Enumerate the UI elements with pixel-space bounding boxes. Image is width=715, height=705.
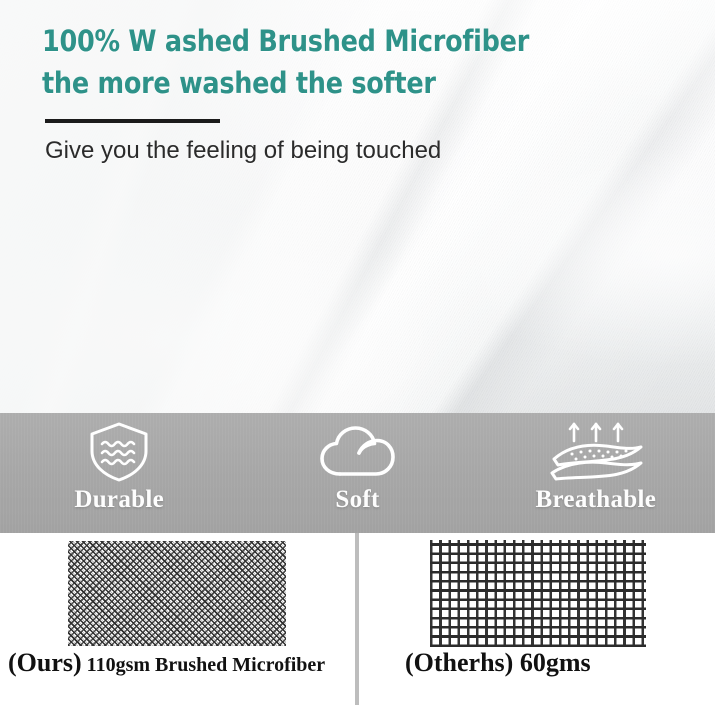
product-feature-banner: 100% W ashed Brushed Microfiber the more… xyxy=(0,0,715,705)
cloud-icon xyxy=(318,421,396,483)
feature-breathable: Breathable xyxy=(477,413,715,533)
headline-line-2: the more washed the softer xyxy=(42,62,535,104)
caption-ours-detail: 110gsm Brushed Microfiber xyxy=(82,654,326,676)
feature-band: Durable Soft xyxy=(0,413,715,533)
caption-ours-main: (Ours) xyxy=(8,648,82,677)
shield-waves-icon xyxy=(86,421,152,483)
headline-line-1: 100% W ashed Brushed Microfiber xyxy=(42,20,535,62)
subheadline: Give you the feeling of being touched xyxy=(45,135,441,167)
caption-others: (Otherhs) 60gms xyxy=(405,648,591,678)
fabric-airflow-icon xyxy=(546,421,646,483)
headline-block: 100% W ashed Brushed Microfiber the more… xyxy=(42,20,602,104)
feature-label-soft: Soft xyxy=(335,485,379,515)
feature-durable: Durable xyxy=(0,413,238,533)
comparison-column-others: (Otherhs) 60gms xyxy=(355,533,715,705)
feature-soft: Soft xyxy=(238,413,476,533)
comparison-column-ours: (Ours) 110gsm Brushed Microfiber xyxy=(0,533,355,705)
swatch-others xyxy=(430,540,646,647)
hero-section: 100% W ashed Brushed Microfiber the more… xyxy=(0,0,715,413)
feature-label-breathable: Breathable xyxy=(536,485,657,515)
headline-divider-rule xyxy=(45,119,220,123)
caption-ours: (Ours) 110gsm Brushed Microfiber xyxy=(8,648,325,678)
feature-label-durable: Durable xyxy=(74,485,164,515)
comparison-divider xyxy=(355,533,359,705)
swatch-ours xyxy=(68,541,286,646)
